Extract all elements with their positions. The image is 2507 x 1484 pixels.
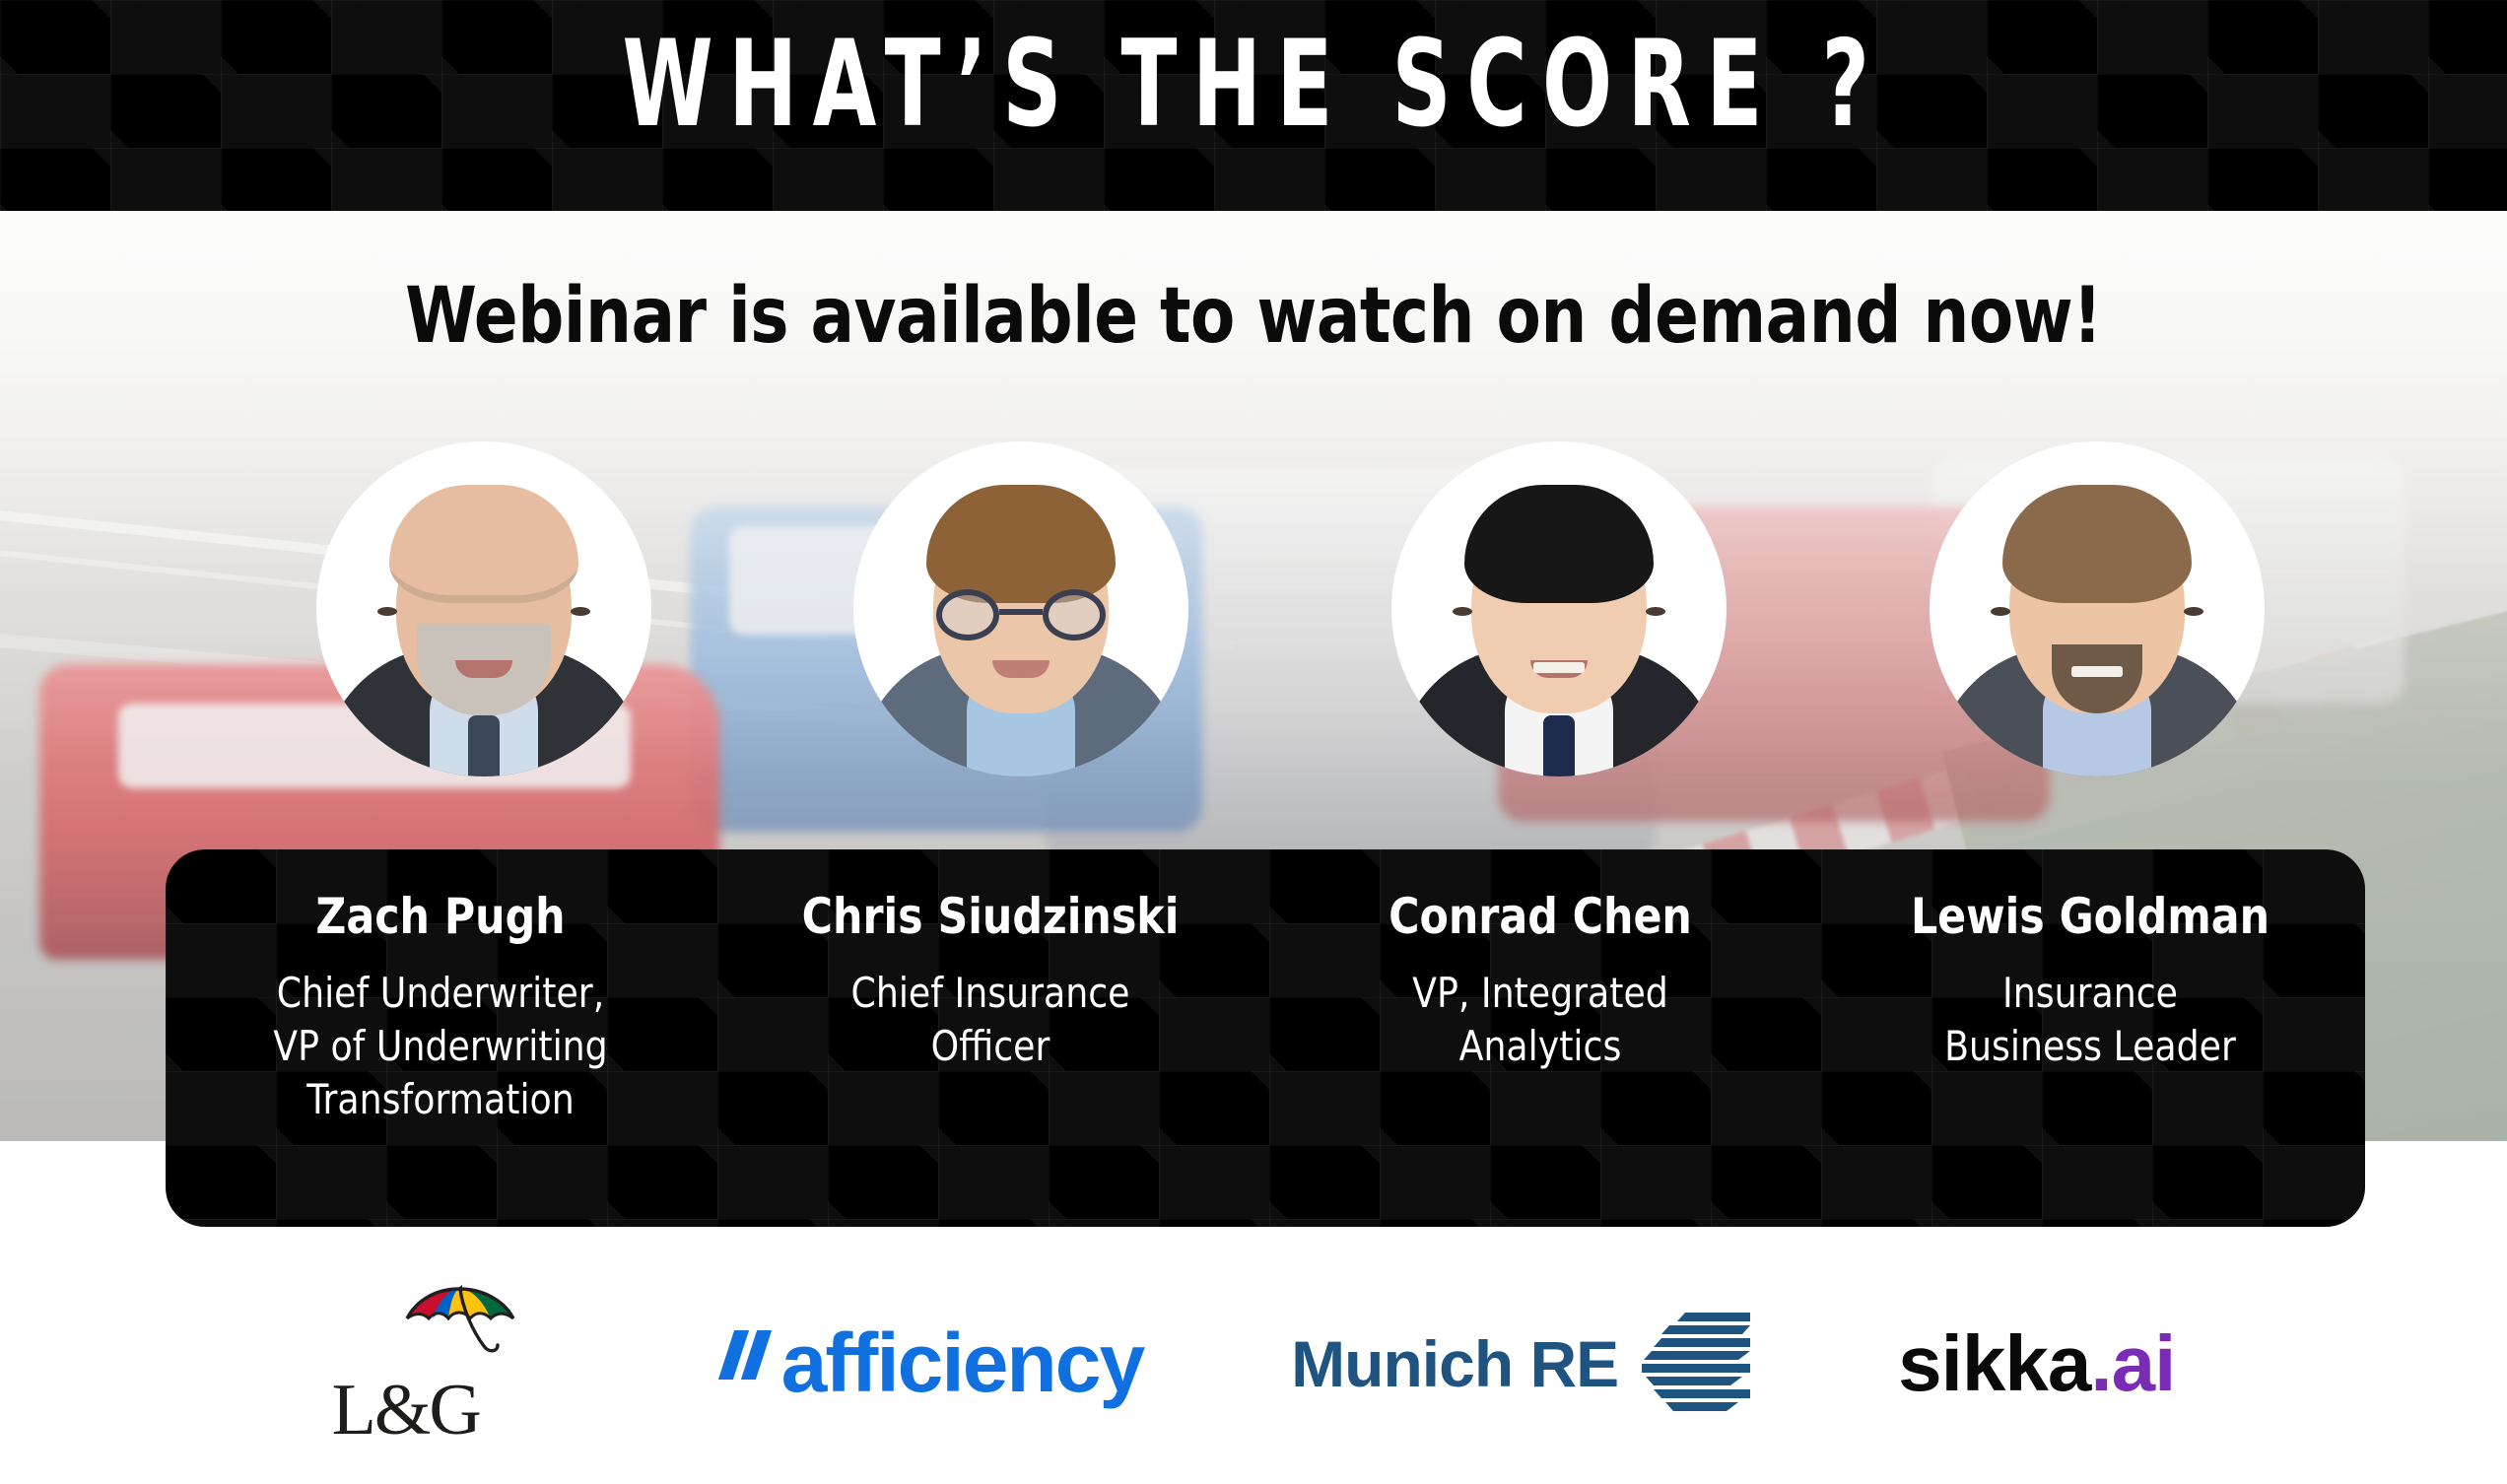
subtitle-text: Webinar is available to watch on demand … bbox=[75, 278, 2431, 355]
logo-munich-re-text: Munich RE bbox=[1291, 1326, 1618, 1401]
logo-sikka-suffix: .ai bbox=[2090, 1319, 2175, 1407]
sponsor-logo-row: L&G afficiency Munich RE bbox=[0, 1244, 2507, 1484]
portrait-zach-pugh bbox=[316, 441, 651, 776]
logo-sikka-text: sikka bbox=[1898, 1319, 2090, 1407]
logo-lg-text: L&G bbox=[332, 1374, 539, 1447]
speaker-card-4: Lewis Goldman Insurance Business Leader bbox=[1815, 891, 2365, 1073]
double-slash-icon bbox=[726, 1330, 772, 1380]
logo-lg: L&G bbox=[332, 1275, 578, 1452]
eyeglasses-icon bbox=[936, 589, 1106, 641]
webinar-promo-poster: WHAT’S THE SCORE ? Webinar is available … bbox=[0, 0, 2507, 1484]
speaker-name: Chris Siudzinski bbox=[742, 891, 1239, 943]
speaker-name: Lewis Goldman bbox=[1842, 891, 2338, 943]
logo-afficiency-text: afficiency bbox=[781, 1326, 1144, 1401]
header-bar: WHAT’S THE SCORE ? bbox=[0, 0, 2507, 211]
logo-afficiency: afficiency bbox=[726, 1326, 1144, 1401]
stripes-icon bbox=[1640, 1313, 1750, 1415]
speakers-panel: Zach Pugh Chief Underwriter, VP of Under… bbox=[166, 849, 2365, 1227]
page-title: WHAT’S THE SCORE ? bbox=[175, 26, 2332, 145]
speaker-name: Zach Pugh bbox=[192, 891, 689, 943]
speaker-title: Chief Underwriter, VP of Underwriting Tr… bbox=[190, 967, 692, 1125]
logo-sikka-ai: sikka.ai bbox=[1898, 1318, 2175, 1409]
speaker-title: Insurance Business Leader bbox=[1840, 967, 2341, 1073]
speaker-title: Chief Insurance Officer bbox=[740, 967, 1242, 1073]
portrait-lewis-goldman bbox=[1930, 441, 2265, 776]
speaker-title: VP, Integrated Analytics bbox=[1290, 967, 1792, 1073]
speaker-card-1: Zach Pugh Chief Underwriter, VP of Under… bbox=[166, 891, 715, 1125]
logo-munich-re: Munich RE bbox=[1291, 1313, 1750, 1415]
portrait-conrad-chen bbox=[1391, 441, 1727, 776]
portrait-chris-siudzinski bbox=[853, 441, 1188, 776]
speaker-card-2: Chris Siudzinski Chief Insurance Officer bbox=[715, 891, 1265, 1073]
speaker-name: Conrad Chen bbox=[1292, 891, 1789, 943]
speaker-card-3: Conrad Chen VP, Integrated Analytics bbox=[1265, 891, 1815, 1073]
umbrella-icon bbox=[397, 1279, 523, 1362]
